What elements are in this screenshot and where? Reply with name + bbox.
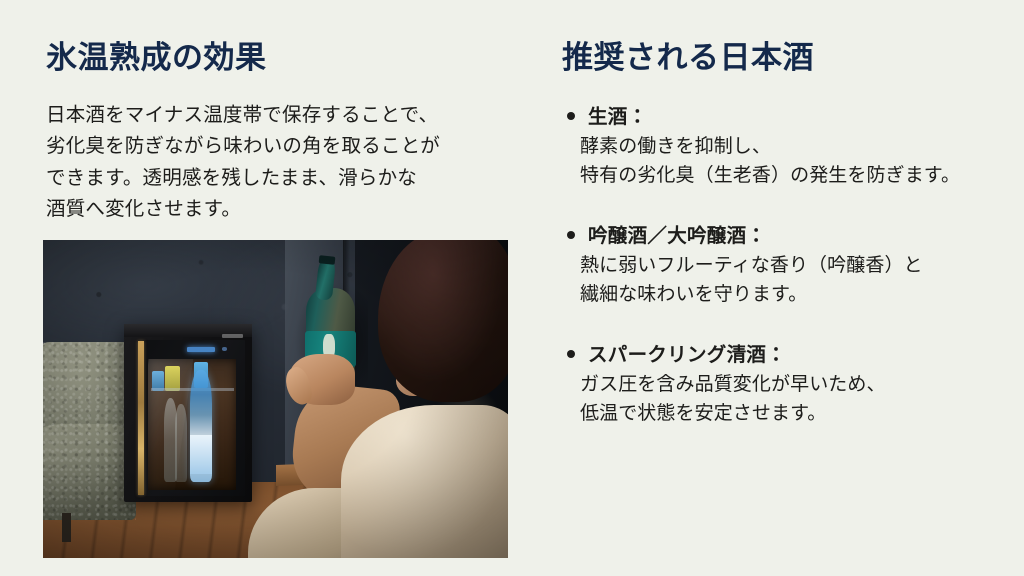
bullet-dot-icon — [567, 112, 575, 120]
bullet-label: スパークリング清酒： — [588, 340, 786, 369]
list-item: 吟醸酒／大吟醸酒： 熱に弱いフルーティな香り（吟醸香）と 繊細な味わいを守ります… — [562, 221, 1022, 309]
left-heading: 氷温熟成の効果 — [46, 40, 516, 77]
description-line: 特有の劣化臭（生老香）の発生を防ぎます。 — [580, 161, 1022, 190]
list-item: スパークリング清酒： ガス圧を含み品質変化が早いため、 低温で状態を安定させます… — [562, 340, 1022, 428]
bullet-label: 生酒： — [588, 102, 647, 131]
description-line: 低温で状態を安定させます。 — [580, 399, 1022, 428]
paragraph-line: 酒質へ変化させます。 — [46, 193, 516, 225]
description-line: 酵素の働きを抑制し、 — [580, 132, 1022, 161]
bullet-label: 吟醸酒／大吟醸酒： — [588, 221, 766, 250]
paragraph-line: 日本酒をマイナス温度帯で保存することで、 — [46, 99, 516, 131]
bullet-row: スパークリング清酒： — [562, 340, 1022, 369]
paragraph-line: できます。透明感を残したまま、滑らかな — [46, 162, 516, 194]
sake-refrigerator-photo — [43, 240, 508, 558]
photo-vignette — [43, 240, 508, 558]
paragraph-line: 劣化臭を防ぎながら味わいの角を取ることが — [46, 130, 516, 162]
bullet-dot-icon — [567, 350, 575, 358]
slide-root: 氷温熟成の効果 日本酒をマイナス温度帯で保存することで、 劣化臭を防ぎながら味わ… — [0, 0, 1024, 576]
bullet-dot-icon — [567, 231, 575, 239]
bullet-description: ガス圧を含み品質変化が早いため、 低温で状態を安定させます。 — [580, 370, 1022, 428]
description-line: ガス圧を含み品質変化が早いため、 — [580, 370, 1022, 399]
list-item: 生酒： 酵素の働きを抑制し、 特有の劣化臭（生老香）の発生を防ぎます。 — [562, 102, 1022, 190]
description-line: 熱に弱いフルーティな香り（吟醸香）と — [580, 251, 1022, 280]
description-line: 繊細な味わいを守ります。 — [580, 280, 1022, 309]
bullet-row: 生酒： — [562, 102, 1022, 131]
right-heading: 推奨される日本酒 — [562, 40, 1022, 77]
left-paragraph: 日本酒をマイナス温度帯で保存することで、 劣化臭を防ぎながら味わいの角を取ること… — [46, 99, 516, 225]
recommended-sake-list: 生酒： 酵素の働きを抑制し、 特有の劣化臭（生老香）の発生を防ぎます。 吟醸酒／… — [562, 102, 1022, 428]
bullet-description: 酵素の働きを抑制し、 特有の劣化臭（生老香）の発生を防ぎます。 — [580, 132, 1022, 190]
left-column: 氷温熟成の効果 日本酒をマイナス温度帯で保存することで、 劣化臭を防ぎながら味わ… — [46, 40, 516, 225]
bullet-description: 熱に弱いフルーティな香り（吟醸香）と 繊細な味わいを守ります。 — [580, 251, 1022, 309]
bullet-row: 吟醸酒／大吟醸酒： — [562, 221, 1022, 250]
right-column: 推奨される日本酒 生酒： 酵素の働きを抑制し、 特有の劣化臭（生老香）の発生を防… — [562, 40, 1022, 428]
